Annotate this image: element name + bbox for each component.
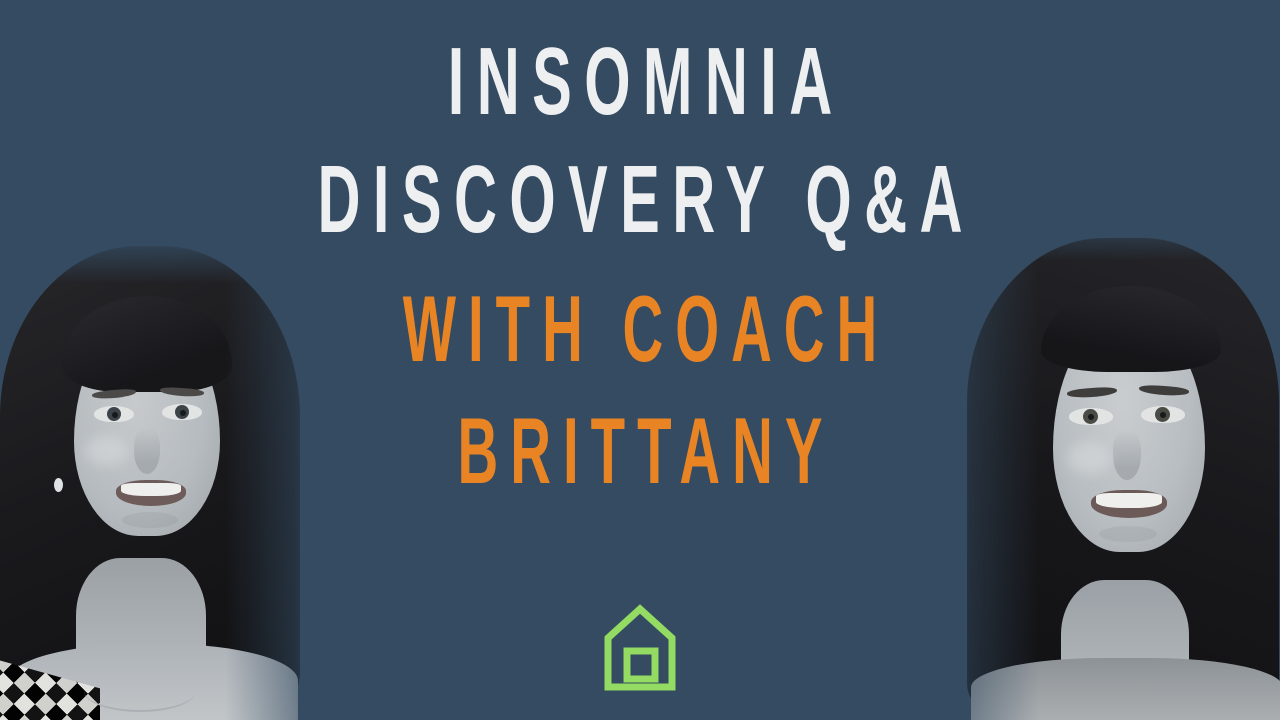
title-line-1: INSOMNIA [243,34,1037,130]
house-inner-square-path [627,651,655,679]
title-line-2: DISCOVERY Q&A [243,152,1037,248]
house-logo [602,604,678,692]
title-line-4: BRITTANY [256,404,1024,498]
title-line-3: WITH COACH [256,282,1024,376]
video-thumbnail: INSOMNIA DISCOVERY Q&A WITH COACH BRITTA… [0,0,1280,720]
title-block: INSOMNIA DISCOVERY Q&A WITH COACH BRITTA… [0,34,1280,498]
house-logo-icon [602,604,678,692]
